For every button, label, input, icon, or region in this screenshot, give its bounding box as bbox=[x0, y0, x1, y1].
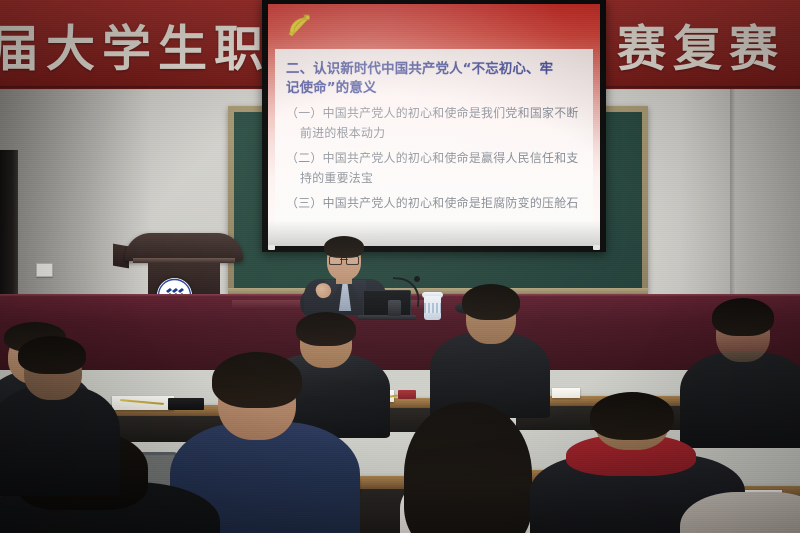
hair bbox=[404, 402, 532, 533]
slide-content-card: 二、认识新时代中国共产党人“不忘初心、牢 记使命”的意义 （一）中国共产党人的初… bbox=[275, 49, 593, 239]
lecture-hall-photo: 届大学生职业生涯 赛复赛 bbox=[0, 0, 800, 533]
hair bbox=[296, 312, 356, 346]
audience-bottom-right bbox=[680, 470, 800, 533]
hair bbox=[462, 284, 520, 320]
party-hammer-sickle-icon bbox=[284, 11, 314, 39]
paper-row1-right2 bbox=[552, 388, 580, 398]
slide-bullet-3: （三）中国共产党人的初心和使命是拒腐防变的压舱石 bbox=[286, 193, 582, 213]
red-notebook bbox=[398, 390, 416, 399]
torso bbox=[680, 492, 800, 533]
audience-long-hair bbox=[390, 404, 550, 533]
hair bbox=[590, 392, 674, 440]
hair bbox=[212, 352, 302, 408]
speaker-hair bbox=[324, 236, 364, 258]
slide-bullet-1-lead: （一）中国共产党人的初心和使命是我们党和国家不断 bbox=[286, 106, 579, 120]
slide-bullet-2: （二）中国共产党人的初心和使命是赢得人民信任和支 持的重要法宝 bbox=[286, 148, 582, 189]
projection-screen: 二、认识新时代中国共产党人“不忘初心、牢 记使命”的意义 （一）中国共产党人的初… bbox=[262, 0, 606, 252]
podium-top bbox=[125, 233, 243, 261]
slide-bullet-1: （一）中国共产党人的初心和使命是我们党和国家不断 前进的根本动力 bbox=[286, 103, 582, 144]
audience-left-front bbox=[0, 330, 110, 460]
slide-bullet-2-lead: （二）中国共产党人的初心和使命是赢得人民信任和支 bbox=[286, 151, 579, 165]
slide-title-line1: 二、认识新时代中国共产党人“不忘初心、牢 bbox=[286, 62, 553, 77]
screen-clip-left bbox=[268, 245, 275, 250]
projection-screen-surface: 二、认识新时代中国共产党人“不忘初心、牢 记使命”的意义 （一）中国共产党人的初… bbox=[268, 4, 600, 246]
screen-clip-right bbox=[593, 245, 600, 250]
banner-text-right: 赛复赛 bbox=[617, 9, 785, 80]
microphone-head bbox=[414, 276, 420, 282]
speaker-glasses-icon bbox=[329, 256, 359, 263]
light-switch[interactable] bbox=[36, 263, 53, 277]
hair bbox=[18, 336, 86, 374]
slide-bullet-1-cont: 前进的根本动力 bbox=[286, 123, 582, 143]
torso bbox=[0, 386, 120, 496]
hair bbox=[712, 298, 774, 336]
slide-title-line2: 记使命”的意义 bbox=[286, 80, 377, 99]
slide-bullet-3-lead: （三）中国共产党人的初心和使命是拒腐防变的压舱石 bbox=[286, 196, 579, 210]
slide-bullet-2-cont: 持的重要法宝 bbox=[286, 168, 582, 188]
presentation-slide: 二、认识新时代中国共产党人“不忘初心、牢 记使命”的意义 （一）中国共产党人的初… bbox=[268, 4, 600, 246]
slide-title: 二、认识新时代中国共产党人“不忘初心、牢 记使命”的意义 bbox=[286, 61, 582, 98]
audience-center-dark bbox=[430, 288, 550, 408]
